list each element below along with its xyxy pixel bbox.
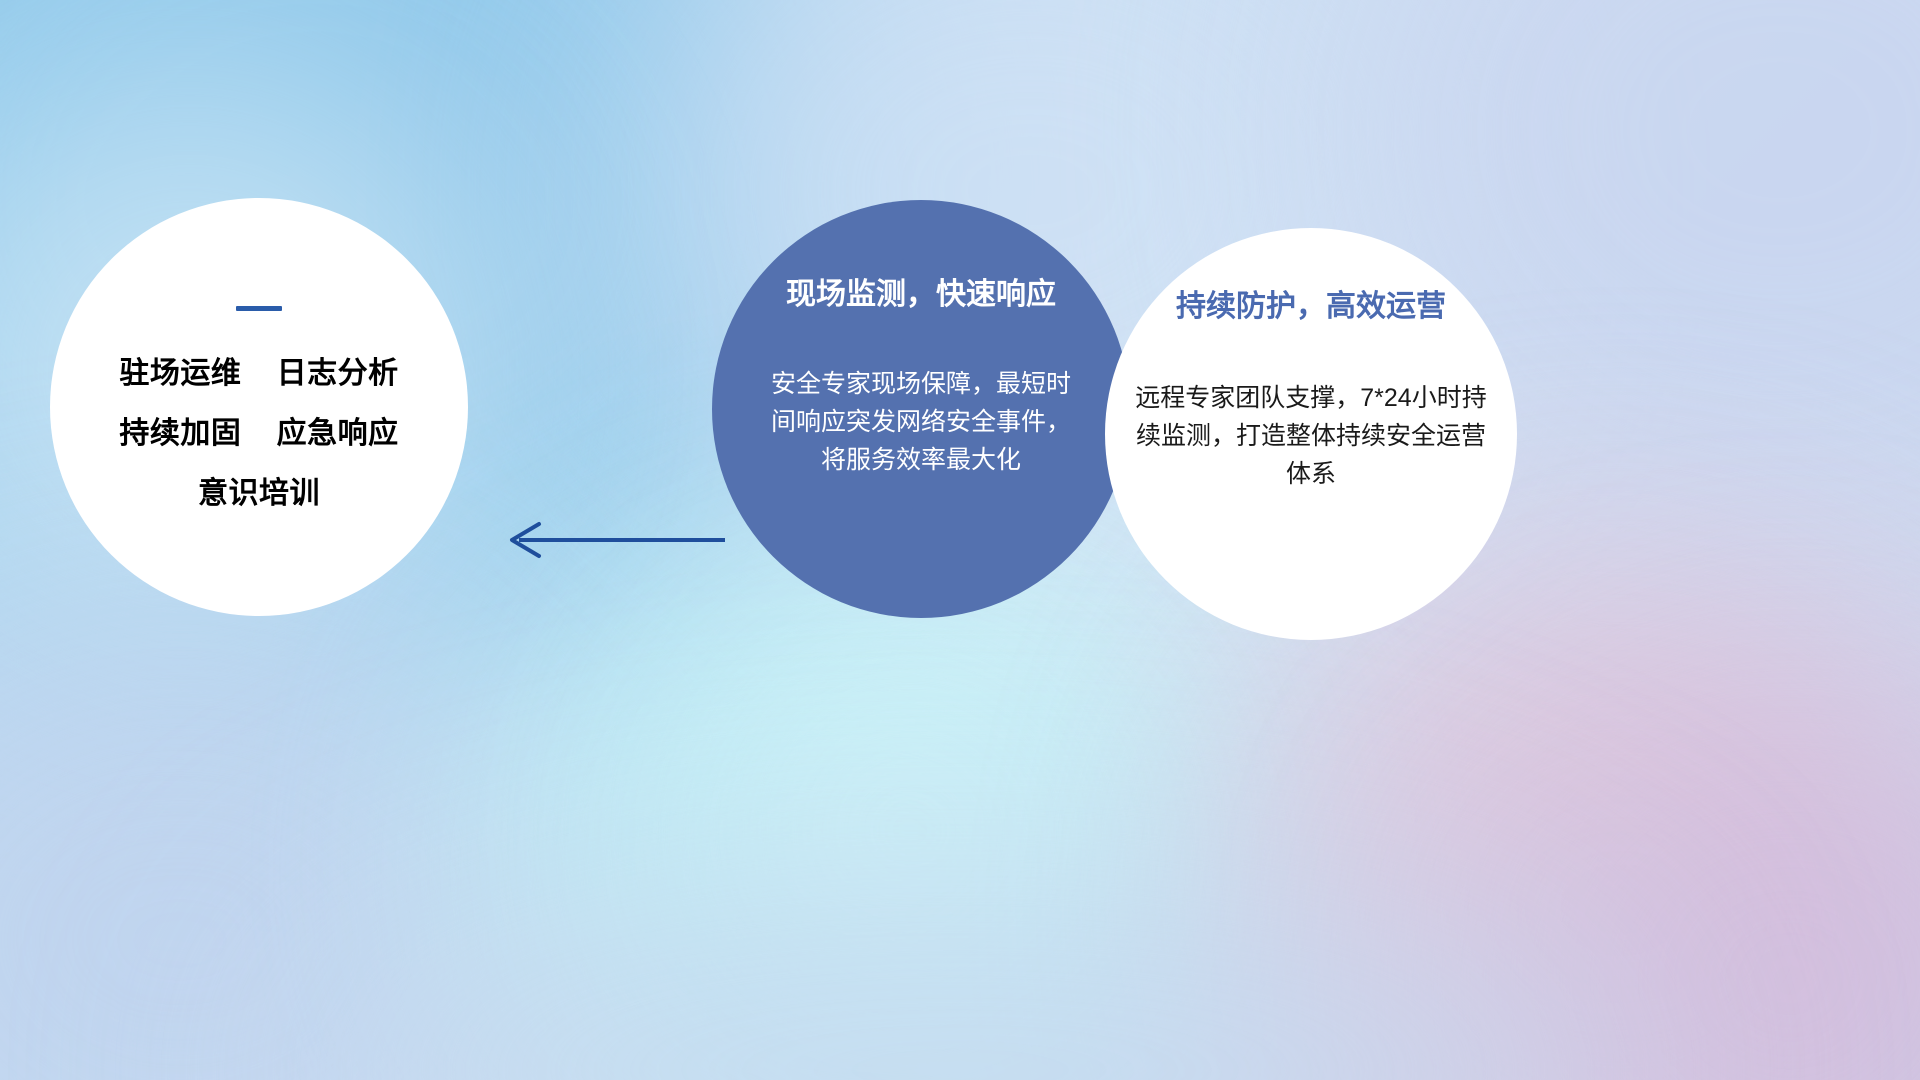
onsite-monitoring-content: 现场监测，快速响应 安全专家现场保障，最短时间响应突发网络安全事件，将服务效率最… bbox=[712, 200, 1130, 618]
slide-canvas: 现场监测，快速响应 安全专家现场保障，最短时间响应突发网络安全事件，将服务效率最… bbox=[0, 0, 1920, 1080]
capability-line-2: 持续加固 应急响应 bbox=[119, 419, 398, 449]
divider-dash-icon bbox=[236, 306, 282, 311]
onsite-monitoring-body: 安全专家现场保障，最短时间响应突发网络安全事件，将服务效率最大化 bbox=[771, 365, 1071, 479]
continuous-protection-title: 持续防护，高效运营 bbox=[1176, 290, 1446, 323]
onsite-monitoring-title: 现场监测，快速响应 bbox=[786, 278, 1056, 311]
capability-line-1: 驻场运维 日志分析 bbox=[119, 359, 398, 389]
continuous-protection-body: 远程专家团队支撑，7*24小时持续监测，打造整体持续安全运营体系 bbox=[1133, 379, 1489, 493]
flow-arrow-left bbox=[495, 518, 725, 562]
service-capabilities-content: 驻场运维 日志分析 持续加固 应急响应 意识培训 bbox=[50, 198, 468, 616]
capability-line-3: 意识培训 bbox=[198, 479, 320, 509]
continuous-protection-content: 持续防护，高效运营 远程专家团队支撑，7*24小时持续监测，打造整体持续安全运营… bbox=[1105, 228, 1517, 640]
